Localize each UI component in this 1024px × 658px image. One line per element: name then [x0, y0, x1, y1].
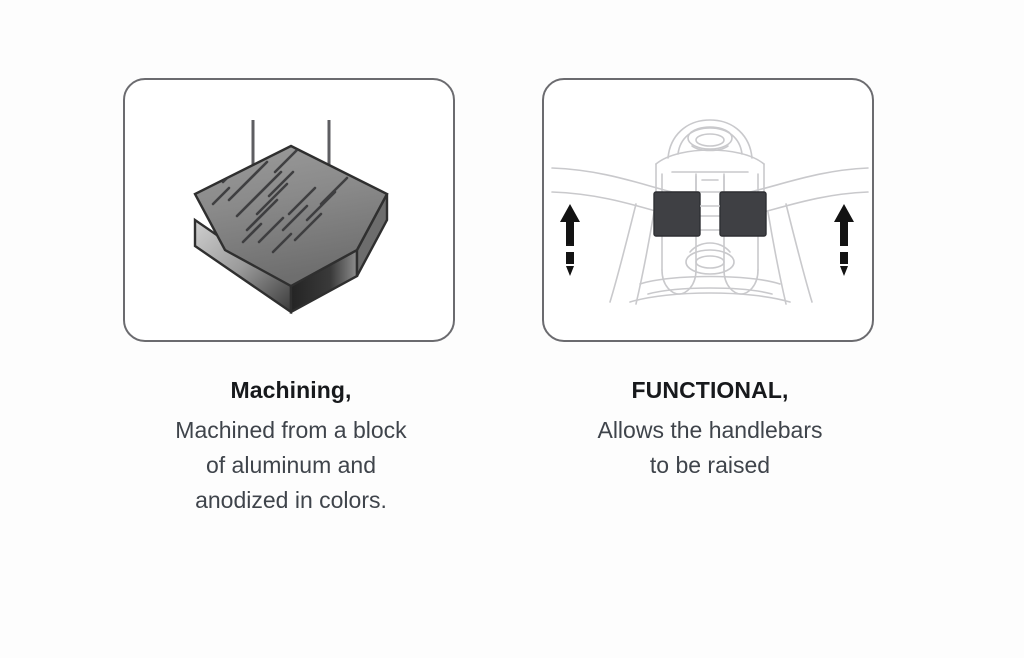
arrow-up-left-icon: [560, 204, 580, 276]
riser-block-left: [654, 192, 700, 236]
riser-block-right: [720, 192, 766, 236]
machining-body-line-3: anodized in colors.: [123, 483, 459, 518]
feature-machining: Machining, Machined from a block of alum…: [123, 78, 459, 518]
arrow-up-right-icon: [834, 204, 854, 276]
feature-highlights-page: Machining, Machined from a block of alum…: [0, 0, 1024, 658]
machining-caption: Machining, Machined from a block of alum…: [123, 376, 459, 518]
handlebar-riser-icon: [544, 80, 874, 342]
functional-caption: FUNCTIONAL, Allows the handlebars to be …: [542, 376, 878, 483]
aluminum-block: [195, 146, 387, 312]
feature-functional: FUNCTIONAL, Allows the handlebars to be …: [542, 78, 878, 483]
machining-body: Machined from a block of aluminum and an…: [123, 413, 459, 518]
functional-title: FUNCTIONAL,: [542, 376, 878, 405]
machining-icon-card: [123, 78, 455, 342]
functional-body-line-2: to be raised: [542, 448, 878, 483]
machining-body-line-1: Machined from a block: [123, 413, 459, 448]
handlebar-line-art: [552, 120, 868, 304]
functional-body: Allows the handlebars to be raised: [542, 413, 878, 483]
cnc-machining-icon: [125, 80, 455, 342]
machining-title: Machining,: [123, 376, 459, 405]
functional-body-line-1: Allows the handlebars: [542, 413, 878, 448]
machining-body-line-2: of aluminum and: [123, 448, 459, 483]
functional-icon-card: [542, 78, 874, 342]
